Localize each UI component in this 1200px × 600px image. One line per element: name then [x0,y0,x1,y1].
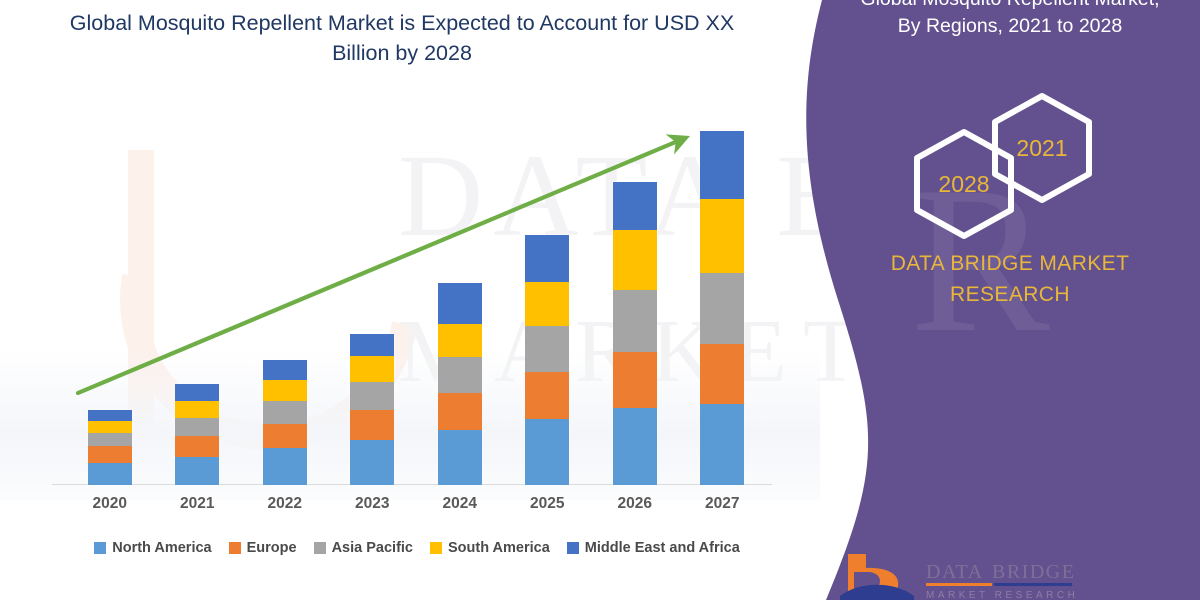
bar-2022[interactable] [263,360,307,485]
bar-segment-south-america[interactable] [350,356,394,381]
legend-swatch-icon [430,542,442,554]
chart-plot-area [60,120,760,485]
legend-item-asia-pacific[interactable]: Asia Pacific [314,540,413,556]
x-axis-tick-labels: 20202021202220232024202520262027 [60,495,760,523]
purple-side-panel: R [760,0,1200,600]
bar-segment-middle-east-and-africa[interactable] [263,360,307,379]
bar-segment-europe[interactable] [438,393,482,431]
bar-segment-south-america[interactable] [175,401,219,418]
x-tick-2026: 2026 [602,495,668,513]
bar-segment-north-america[interactable] [263,448,307,484]
legend-item-south-america[interactable]: South America [430,540,550,556]
bar-segment-asia-pacific[interactable] [175,418,219,436]
bar-segment-europe[interactable] [88,446,132,462]
bar-segment-asia-pacific[interactable] [88,433,132,446]
bar-segment-north-america[interactable] [88,463,132,485]
bar-segment-middle-east-and-africa[interactable] [438,283,482,324]
bar-segment-asia-pacific[interactable] [350,382,394,410]
legend-label: North America [112,540,211,556]
bar-segment-south-america[interactable] [525,282,569,326]
bar-2023[interactable] [350,334,394,485]
bar-2026[interactable] [613,182,657,485]
svg-text:MARKET RESEARCH: MARKET RESEARCH [926,590,1078,600]
legend-swatch-icon [567,542,579,554]
legend-label: Europe [247,540,297,556]
bar-segment-middle-east-and-africa[interactable] [525,235,569,283]
bar-segment-south-america[interactable] [438,324,482,357]
infographic-canvas: DATA BRIDGE MARKET RESEARCH Global Mosqu… [0,0,1200,600]
legend-label: Asia Pacific [332,540,413,556]
bar-2021[interactable] [175,384,219,485]
x-tick-2027: 2027 [689,495,755,513]
bar-segment-europe[interactable] [613,352,657,408]
bar-segment-north-america[interactable] [700,404,744,485]
bar-segment-asia-pacific[interactable] [700,273,744,344]
x-tick-2020: 2020 [77,495,143,513]
svg-text:R: R [910,144,1050,376]
stacked-bar-chart: 20202021202220232024202520262027 North A… [0,0,800,600]
bar-2025[interactable] [525,235,569,485]
bar-segment-asia-pacific[interactable] [263,401,307,424]
svg-text:BRIDGE: BRIDGE [992,561,1075,583]
bar-segment-asia-pacific[interactable] [438,357,482,392]
x-tick-2023: 2023 [339,495,405,513]
bar-2020[interactable] [88,410,132,485]
legend-label: South America [448,540,550,556]
logo-artwork-icon: DATA BRIDGE MARKET RESEARCH [840,552,1170,600]
bar-segment-north-america[interactable] [438,430,482,485]
bar-segment-south-america[interactable] [263,380,307,401]
bar-segment-north-america[interactable] [613,408,657,485]
bar-segment-south-america[interactable] [613,230,657,291]
bar-segment-asia-pacific[interactable] [525,326,569,373]
svg-text:DATA: DATA [926,561,984,583]
x-tick-2025: 2025 [514,495,580,513]
legend-item-europe[interactable]: Europe [229,540,297,556]
data-bridge-logo: DATA BRIDGE MARKET RESEARCH [840,552,1170,600]
bar-segment-middle-east-and-africa[interactable] [175,384,219,401]
legend-item-middle-east-and-africa[interactable]: Middle East and Africa [567,540,740,556]
bar-segment-asia-pacific[interactable] [613,290,657,352]
chart-legend: North AmericaEuropeAsia PacificSouth Ame… [52,540,782,556]
bar-segment-north-america[interactable] [350,440,394,485]
bar-segment-europe[interactable] [525,372,569,419]
bar-segment-middle-east-and-africa[interactable] [88,410,132,421]
bar-segment-europe[interactable] [700,344,744,404]
bar-segment-middle-east-and-africa[interactable] [350,334,394,356]
bar-segment-europe[interactable] [175,436,219,456]
x-tick-2022: 2022 [252,495,318,513]
bar-2027[interactable] [700,131,744,485]
bar-segment-middle-east-and-africa[interactable] [613,182,657,230]
bar-segment-south-america[interactable] [88,421,132,433]
bar-segment-south-america[interactable] [700,199,744,273]
bar-segment-north-america[interactable] [175,457,219,485]
legend-swatch-icon [229,542,241,554]
bar-2024[interactable] [438,283,482,485]
bar-segment-north-america[interactable] [525,419,569,485]
bar-segment-europe[interactable] [350,410,394,440]
legend-label: Middle East and Africa [585,540,740,556]
x-tick-2024: 2024 [427,495,493,513]
bar-segment-europe[interactable] [263,424,307,448]
legend-swatch-icon [314,542,326,554]
x-tick-2021: 2021 [164,495,230,513]
legend-item-north-america[interactable]: North America [94,540,211,556]
legend-swatch-icon [94,542,106,554]
bar-segment-middle-east-and-africa[interactable] [700,131,744,199]
